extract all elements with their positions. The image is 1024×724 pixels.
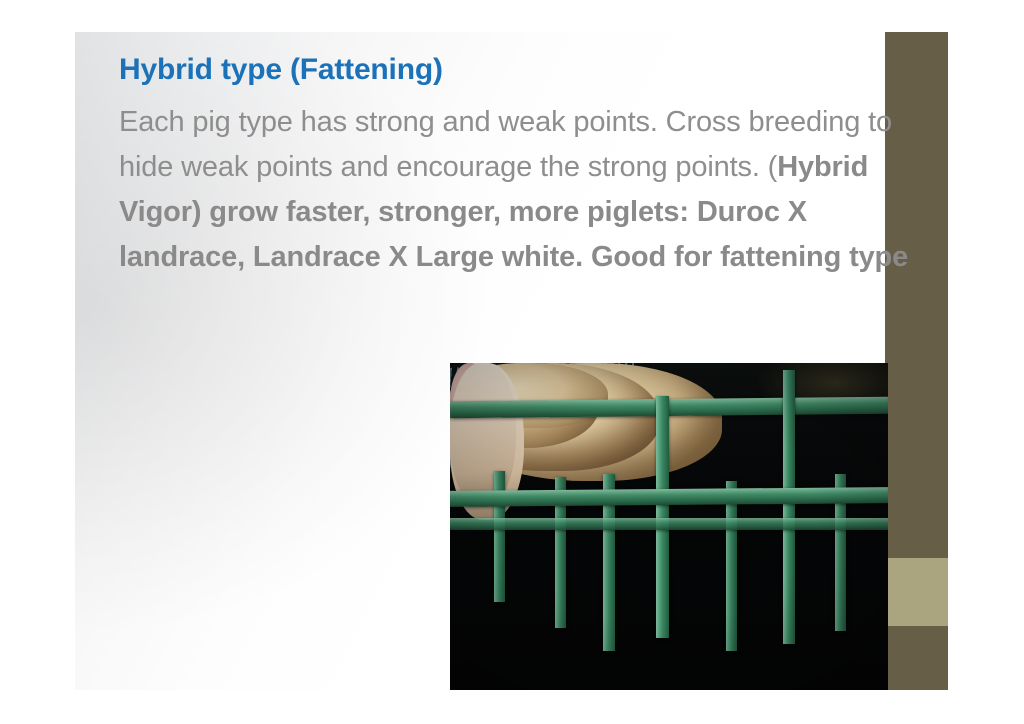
accent-bar-tan-band bbox=[885, 558, 948, 626]
page-title: Hybrid type (Fattening) bbox=[119, 52, 909, 88]
body-text-open-paren: ( bbox=[768, 151, 778, 183]
pig-pen-photo bbox=[450, 363, 888, 690]
slide-root: Hybrid type (Fattening) Each pig type ha… bbox=[0, 0, 1024, 724]
slide-card: Hybrid type (Fattening) Each pig type ha… bbox=[75, 32, 948, 690]
photo-vignette bbox=[450, 363, 888, 690]
slide-body-text: Each pig type has strong and weak points… bbox=[119, 100, 909, 280]
slide-text-block: Hybrid type (Fattening) Each pig type ha… bbox=[119, 52, 909, 280]
